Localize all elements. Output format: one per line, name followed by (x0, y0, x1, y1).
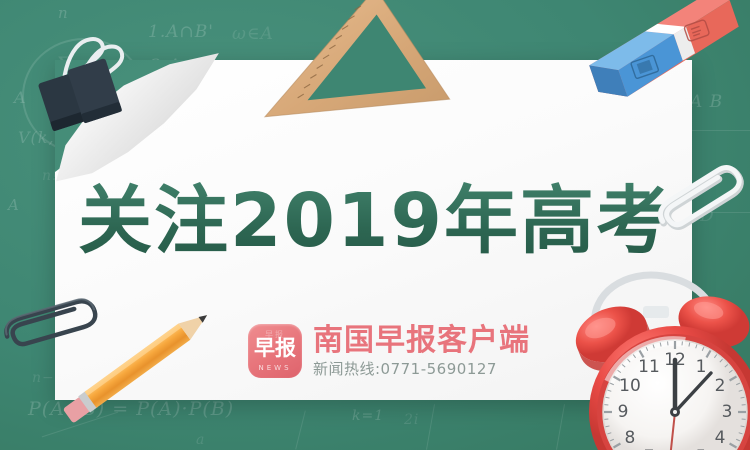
clock-numeral: 9 (618, 402, 629, 422)
paperclip-right-icon (650, 160, 750, 250)
poster-canvas: 1.A∩B'ω∈A2.A∩B3.ABV(k,n)n!An−P(A∩B) = P(… (0, 0, 750, 450)
binder-clip-icon (28, 24, 138, 129)
chalk-formula: 2i (404, 412, 419, 428)
clock-numeral: 11 (638, 357, 660, 377)
brand-block: 早报 早报 NEWS 南国早报客户端 新闻热线:0771-5690127 (248, 324, 530, 379)
pencil-icon (55, 295, 230, 425)
eraser-icon (567, 0, 750, 108)
chalk-formula: k=1 (352, 408, 384, 424)
hotline-text: 新闻热线:0771-5690127 (313, 359, 530, 379)
clock-numeral: 4 (715, 428, 726, 448)
app-logo-badge[interactable]: 早报 早报 NEWS (248, 324, 302, 378)
triangle-ruler-icon (265, 0, 455, 133)
page-title: 关注2019年高考 (0, 182, 750, 260)
brand-text-group: 南国早报客户端 新闻热线:0771-5690127 (313, 324, 530, 379)
logo-main-text: 早报 (248, 337, 302, 359)
chalk-formula: A (14, 88, 27, 107)
chalk-formula: n− (32, 370, 55, 386)
clock-numeral: 10 (619, 376, 641, 396)
clock-numeral: 8 (625, 428, 636, 448)
alarm-clock-icon: 121234567891011 (565, 272, 750, 450)
clock-numeral: 3 (722, 402, 733, 422)
chalk-formula: a (196, 432, 205, 448)
logo-sub-text: NEWS (248, 364, 302, 372)
chalk-formula: 1.A∩B' (148, 22, 214, 42)
brand-name: 南国早报客户端 (313, 324, 530, 357)
chalk-formula: n (58, 4, 69, 22)
clock-numeral: 2 (715, 376, 726, 396)
clock-numeral: 1 (696, 357, 707, 377)
